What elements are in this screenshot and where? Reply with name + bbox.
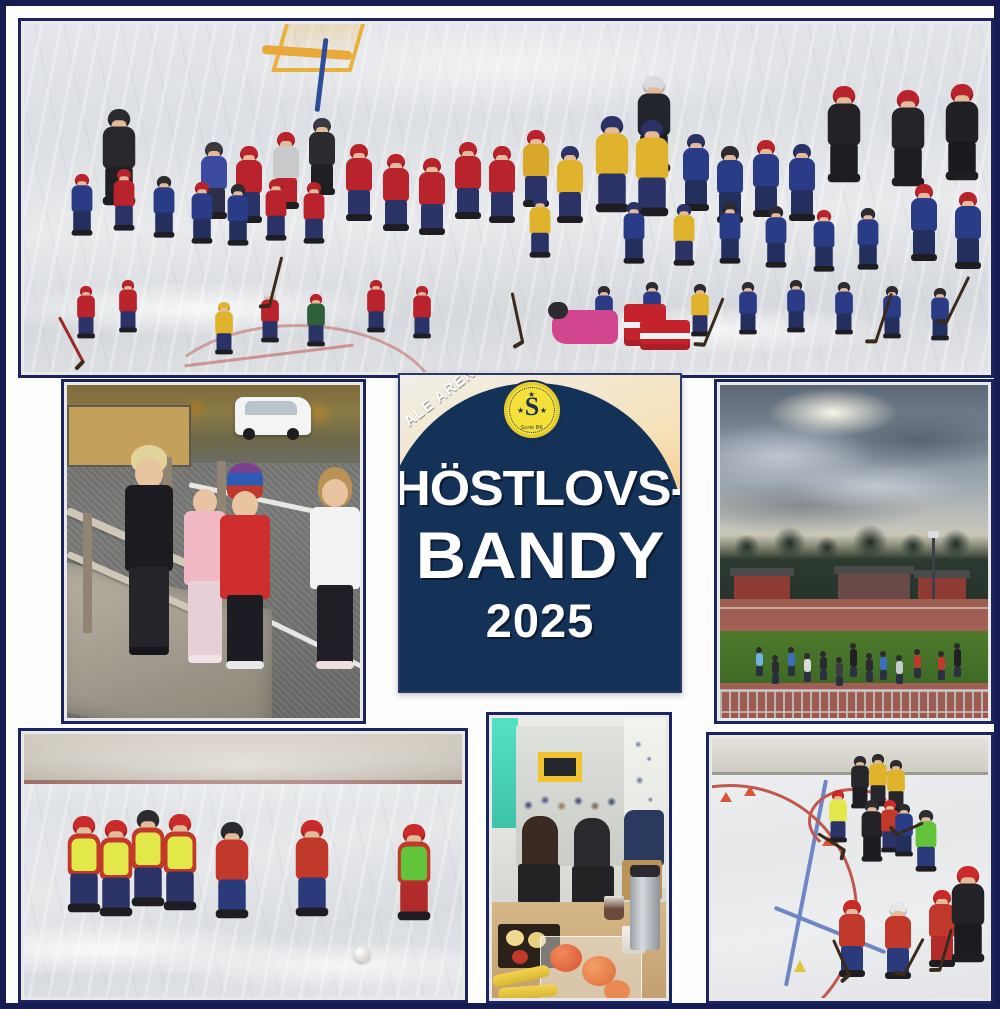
child-in-white-hoodie xyxy=(305,467,360,685)
green-wall-panel xyxy=(492,718,518,828)
paper-cup xyxy=(604,896,624,920)
kids-outdoors-photo[interactable] xyxy=(61,379,366,724)
wall-screen xyxy=(538,752,582,782)
apple xyxy=(550,944,582,972)
team-group-photo[interactable] xyxy=(18,18,994,378)
runner xyxy=(938,651,945,680)
red-building xyxy=(918,577,966,599)
sign-line-2: BANDY xyxy=(398,517,682,593)
white-car xyxy=(235,397,311,435)
runner xyxy=(756,647,763,676)
photo-mat xyxy=(489,715,669,1001)
equipment-bag xyxy=(640,320,690,350)
coffee-thermos xyxy=(630,874,660,950)
training-cone xyxy=(720,792,732,802)
training-cone xyxy=(744,786,756,796)
red-building xyxy=(734,575,790,599)
runner xyxy=(954,643,961,677)
training-cone xyxy=(794,960,806,972)
crest-letter: S xyxy=(504,394,560,420)
runner xyxy=(880,651,887,680)
runner xyxy=(896,655,903,684)
sign-line-1: HÖSTLOVS- xyxy=(398,461,682,517)
cafeteria-fika-photo[interactable] xyxy=(486,712,672,1004)
club-crest-icon: ★ ★ ★ S Surte BK xyxy=(504,382,560,438)
photo-mat xyxy=(21,21,991,375)
bibs-photo-scene xyxy=(24,734,462,997)
runner xyxy=(772,655,779,684)
track-fence xyxy=(720,690,988,718)
person-seated-side xyxy=(624,810,664,866)
ice-practice-photo[interactable] xyxy=(706,732,994,1004)
event-sign[interactable]: ALE ARENA ★ ★ ★ S Surte BK HÖSTLOVS- BAN… xyxy=(398,373,682,693)
runner xyxy=(820,651,827,680)
track-photo-scene xyxy=(720,385,988,718)
bandy-ball xyxy=(354,946,370,962)
sign-line-3: 2025 xyxy=(400,593,680,648)
runner xyxy=(866,653,873,682)
child-in-black-jacket xyxy=(119,445,179,675)
fruit-piece xyxy=(604,980,630,998)
player-lying-helmet xyxy=(548,302,568,319)
chair xyxy=(518,864,560,902)
photo-mat xyxy=(709,735,991,1001)
floodlight-mast xyxy=(932,537,935,599)
rink-advertising-board xyxy=(712,738,988,775)
child-in-red-jacket xyxy=(215,463,275,685)
ramp-photo-scene xyxy=(67,385,360,718)
red-building xyxy=(838,573,910,599)
runner xyxy=(836,657,843,686)
runner xyxy=(850,643,857,677)
training-photo-scene xyxy=(712,738,988,998)
running-track-photo[interactable] xyxy=(714,379,994,724)
fence-post xyxy=(83,513,92,633)
track-lane-line xyxy=(720,607,988,609)
photo-mat xyxy=(717,382,991,721)
fika-photo-scene xyxy=(492,718,666,998)
photo-collage: ALE ARENA ★ ★ ★ S Surte BK HÖSTLOVS- BAN… xyxy=(0,0,1000,1009)
venue-label: ALE ARENA xyxy=(401,373,488,430)
crest-subtext: Surte BK xyxy=(504,425,560,431)
runner xyxy=(788,647,795,676)
training-bibs-photo[interactable] xyxy=(18,728,468,1003)
photo-mat xyxy=(64,382,363,721)
sign-content: ALE ARENA ★ ★ ★ S Surte BK HÖSTLOVS- BAN… xyxy=(400,375,680,691)
photo-mat xyxy=(21,731,465,1000)
runner xyxy=(804,653,811,682)
group-photo-scene xyxy=(24,24,988,372)
runner xyxy=(914,649,921,678)
fruit-piece xyxy=(506,930,524,946)
fruit-piece xyxy=(512,950,528,964)
